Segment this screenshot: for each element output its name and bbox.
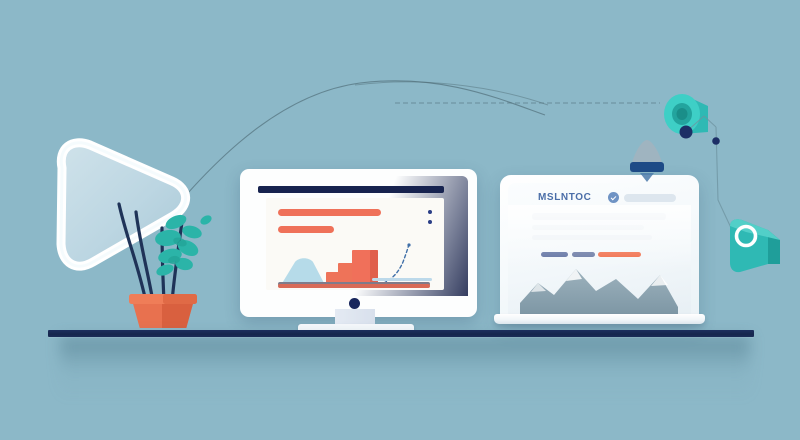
subhead-bar xyxy=(278,226,334,233)
connector-node-large xyxy=(680,126,693,139)
mountain-area-chart xyxy=(520,261,680,315)
shelf-shadow xyxy=(60,337,750,399)
monitor-power-dot[interactable] xyxy=(349,298,360,309)
headline-bar xyxy=(278,209,381,216)
connector-node-small xyxy=(712,137,720,145)
laptop-hinge-base xyxy=(494,314,705,324)
potted-plant xyxy=(110,198,225,328)
screen-accent-line xyxy=(372,278,432,281)
illustration-scene: MSLNTOC xyxy=(0,0,800,440)
laptop-screen-title: MSLNTOC xyxy=(538,192,591,203)
monitor-top-strip xyxy=(258,186,444,193)
shelf xyxy=(48,330,754,337)
more-options-icon[interactable] xyxy=(428,210,432,214)
more-options-icon[interactable] xyxy=(428,220,432,224)
teal-cube-with-ring xyxy=(726,216,788,278)
monitor-screen[interactable] xyxy=(266,198,444,290)
progress-footer xyxy=(278,284,430,288)
